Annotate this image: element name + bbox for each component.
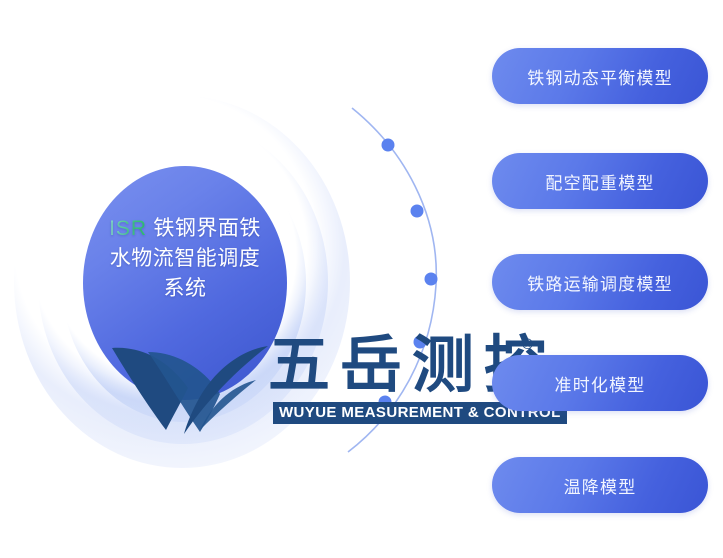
model-pill-dynamic-balance[interactable]: 铁钢动态平衡模型 bbox=[492, 48, 708, 104]
connector-node-4 bbox=[414, 336, 427, 349]
page-title-line-1: 铁钢界面铁 bbox=[153, 217, 261, 240]
model-pill-label: 铁钢动态平衡模型 bbox=[527, 64, 673, 89]
model-pill-just-in-time[interactable]: 准时化模型 bbox=[492, 355, 708, 411]
isr-badge: ISR bbox=[109, 217, 147, 240]
model-pill-temperature-drop[interactable]: 温降模型 bbox=[492, 457, 708, 513]
model-pill-label: 准时化模型 bbox=[555, 371, 646, 396]
model-pill-label: 铁路运输调度模型 bbox=[527, 270, 673, 295]
connector-node-2 bbox=[411, 205, 424, 218]
page-title-line-3: 系统 bbox=[164, 277, 207, 300]
model-pill-empty-ballast[interactable]: 配空配重模型 bbox=[492, 153, 708, 209]
connector-node-5 bbox=[379, 396, 392, 409]
registered-trademark-icon: ® bbox=[522, 336, 533, 353]
model-pill-label: 配空配重模型 bbox=[545, 169, 654, 194]
infographic-canvas: ISR 铁钢界面铁 水物流智能调度 系统 五岳测控 ® WUYUE MEASUR… bbox=[0, 0, 723, 558]
connector-node-1 bbox=[382, 139, 395, 152]
model-pill-label: 温降模型 bbox=[564, 473, 637, 498]
connector-node-3 bbox=[425, 273, 438, 286]
connector-path bbox=[348, 108, 436, 452]
page-title: ISR 铁钢界面铁 水物流智能调度 系统 bbox=[83, 214, 287, 304]
page-title-line-2: 水物流智能调度 bbox=[110, 247, 261, 270]
model-pill-rail-dispatch[interactable]: 铁路运输调度模型 bbox=[492, 254, 708, 310]
